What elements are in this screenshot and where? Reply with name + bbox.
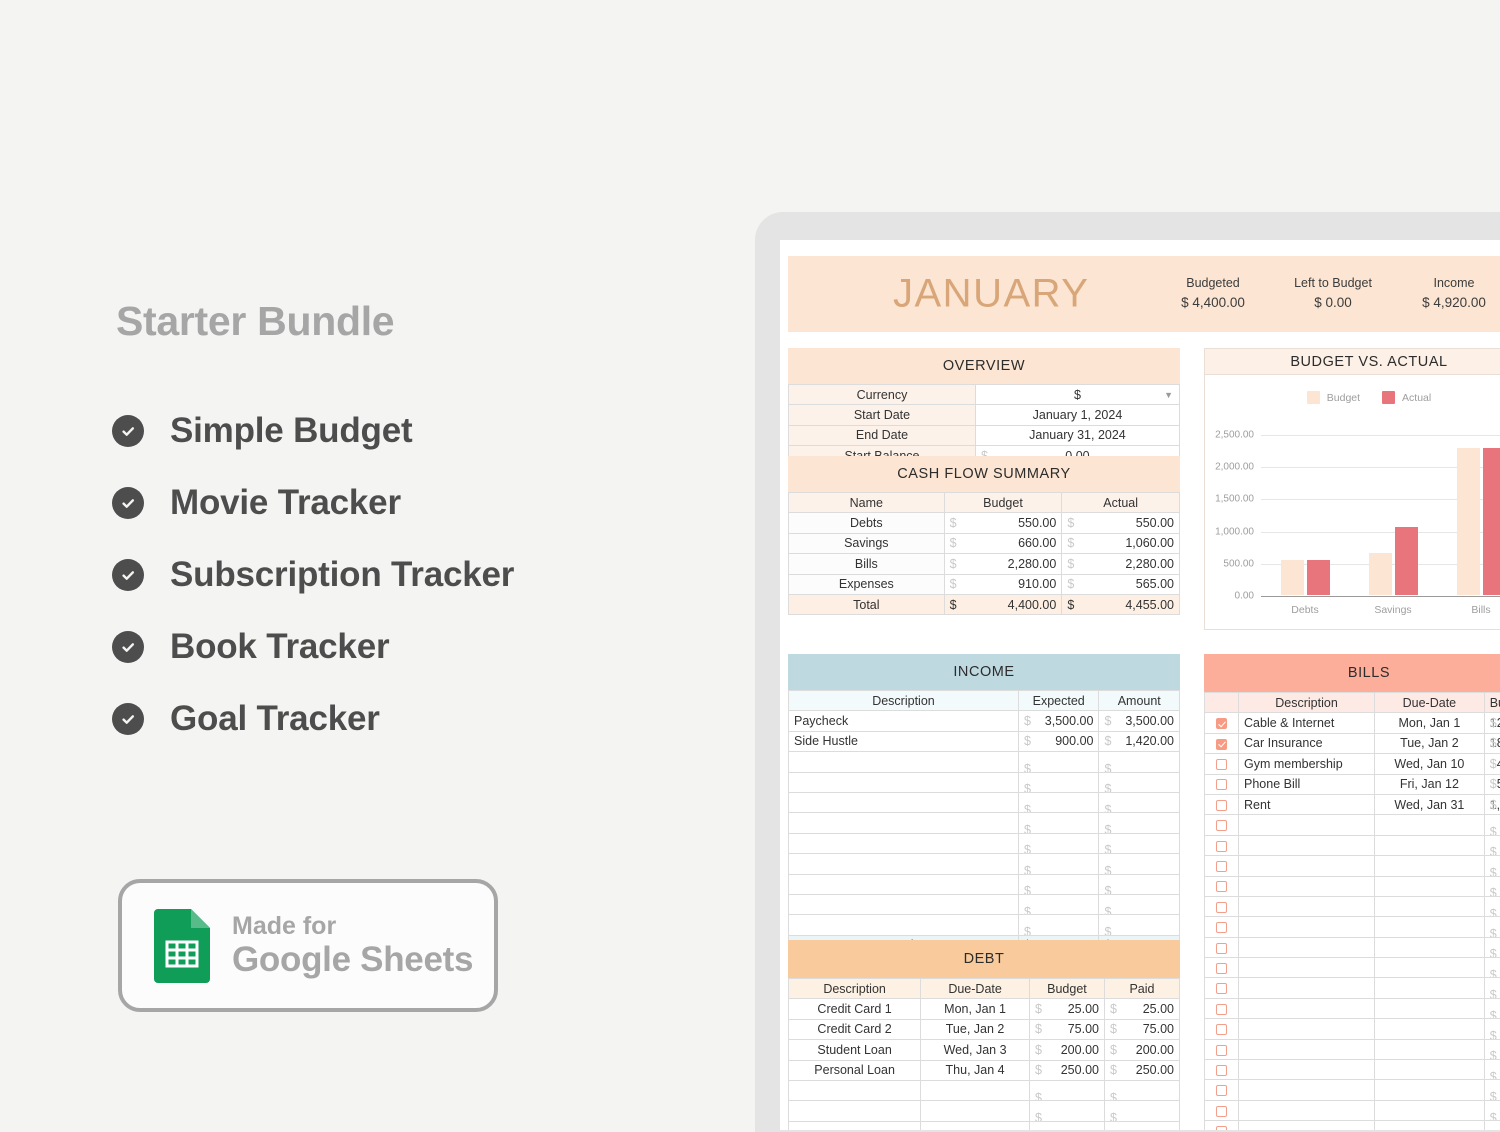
list-item: Book Tracker	[112, 611, 712, 683]
currency-symbol: $	[1110, 1022, 1117, 1036]
money-cell: $	[1018, 854, 1099, 874]
table-row-empty[interactable]: $	[1205, 1060, 1500, 1080]
debt-due-date: Thu, Jan 4	[921, 1060, 1030, 1080]
bills-panel: BILLS Description Due-Date Budget Cable …	[1204, 654, 1500, 1130]
currency-symbol: $	[1490, 825, 1497, 835]
currency-symbol: $	[1104, 762, 1111, 772]
kpi-value: $ 4,920.00	[1398, 293, 1500, 314]
bar-actual	[1307, 560, 1330, 595]
money-cell: $250.00	[1104, 1060, 1179, 1080]
income-description	[789, 874, 1019, 894]
income-table: Description Expected Amount Paycheck$3,5…	[788, 690, 1180, 956]
bill-paid-checkbox[interactable]	[1205, 835, 1239, 855]
income-description	[789, 915, 1019, 935]
kpi-left-to-budget: Left to Budget $ 0.00	[1274, 274, 1392, 314]
table-header-row: Description Due-Date Budget	[1205, 693, 1500, 713]
cash-flow-total-budget: $4,400.00	[944, 594, 1062, 614]
bill-paid-checkbox[interactable]	[1205, 794, 1239, 814]
currency-symbol: $	[1490, 947, 1497, 957]
chevron-down-icon[interactable]: ▼	[1164, 390, 1173, 400]
bill-paid-checkbox[interactable]	[1205, 1080, 1239, 1100]
bill-due-date: Mon, Jan 1	[1375, 713, 1485, 733]
list-item: Goal Tracker	[112, 683, 712, 755]
y-axis-tick-label: 0.00	[1235, 591, 1254, 602]
table-row: Side Hustle$900.00$1,420.00	[789, 731, 1180, 751]
table-row-empty[interactable]: $	[1205, 1039, 1500, 1059]
income-title: INCOME	[788, 654, 1180, 690]
table-row-empty[interactable]: $	[1205, 815, 1500, 835]
table-row-empty[interactable]: $$	[789, 1101, 1180, 1121]
legend-swatch	[1382, 391, 1395, 404]
currency-symbol: $	[1024, 714, 1031, 728]
currency-symbol: $	[950, 516, 957, 530]
currency-symbol: $	[1490, 1049, 1497, 1059]
currency-symbol: $	[1490, 1090, 1497, 1100]
table-row: Phone BillFri, Jan 12$50.00	[1205, 774, 1500, 794]
currency-symbol: $	[1035, 1043, 1042, 1057]
money-cell: $	[1484, 856, 1500, 876]
cash-flow-total-actual: $4,455.00	[1062, 594, 1180, 614]
money-cell: $	[1029, 1121, 1104, 1130]
bill-description	[1239, 1121, 1375, 1130]
check-circle-icon	[112, 631, 144, 663]
bill-due-date	[1375, 1100, 1485, 1120]
currency-symbol: $	[1024, 734, 1031, 748]
bill-description	[1239, 958, 1375, 978]
bill-description: Car Insurance	[1239, 733, 1375, 753]
bill-description	[1239, 1019, 1375, 1039]
bill-description: Rent	[1239, 794, 1375, 814]
debt-description	[789, 1080, 921, 1100]
debt-due-date: Tue, Jan 2	[921, 1019, 1030, 1039]
table-row-empty[interactable]: $$	[789, 1121, 1180, 1130]
feature-list: Simple Budget Movie Tracker Subscription…	[112, 395, 712, 755]
value: 3,500.00	[1045, 714, 1094, 728]
cash-flow-name: Debts	[789, 513, 945, 533]
bill-paid-checkbox[interactable]	[1205, 998, 1239, 1018]
column-header: Budget	[1029, 979, 1104, 999]
bill-paid-checkbox[interactable]	[1205, 978, 1239, 998]
money-cell: $	[1484, 937, 1500, 957]
debt-due-date: Mon, Jan 1	[921, 999, 1030, 1019]
currency-symbol: $	[1490, 907, 1497, 917]
currency-symbol: $	[1490, 798, 1497, 812]
income-description: Paycheck	[789, 711, 1019, 731]
bill-paid-checkbox[interactable]	[1205, 713, 1239, 733]
table-row-empty[interactable]: $$	[789, 752, 1180, 772]
value: 1,060.00	[1125, 536, 1174, 550]
check-circle-icon	[112, 415, 144, 447]
money-cell: $	[1099, 915, 1180, 935]
bill-paid-checkbox[interactable]	[1205, 917, 1239, 937]
debt-due-date	[921, 1121, 1030, 1130]
bar-group: Debts	[1277, 419, 1333, 595]
checkbox-icon[interactable]	[1216, 902, 1227, 913]
x-axis-tick-label: Bills	[1453, 604, 1500, 616]
kpi-value: $ 4,400.00	[1158, 293, 1268, 314]
cash-flow-actual: $2,280.00	[1062, 554, 1180, 574]
table-row: Savings $660.00 $1,060.00	[789, 533, 1180, 553]
currency-symbol: $	[1490, 757, 1497, 771]
checkbox-icon[interactable]	[1216, 1106, 1227, 1117]
money-cell: $	[1099, 833, 1180, 853]
debt-description: Personal Loan	[789, 1060, 921, 1080]
table-row-empty[interactable]: $	[1205, 856, 1500, 876]
currency-symbol: $	[1035, 1091, 1042, 1101]
income-description	[789, 854, 1019, 874]
bar-budget	[1369, 553, 1392, 595]
legend-item-actual: Actual	[1382, 391, 1431, 404]
bill-description	[1239, 1039, 1375, 1059]
chart-legend: Budget Actual	[1205, 391, 1500, 404]
table-row-empty[interactable]: $	[1205, 1019, 1500, 1039]
table-row: Personal LoanThu, Jan 4$250.00$250.00	[789, 1060, 1180, 1080]
bill-description	[1239, 998, 1375, 1018]
overview-table: Currency $ ▼ Start Date January 1, 2024 …	[788, 384, 1180, 467]
currency-symbol: $	[1104, 823, 1111, 833]
chart-plot-area: 2,500.002,000.001,500.001,000.00500.000.…	[1261, 419, 1500, 595]
cash-flow-budget: $660.00	[944, 533, 1062, 553]
cash-flow-name: Savings	[789, 533, 945, 553]
bill-paid-checkbox[interactable]	[1205, 1019, 1239, 1039]
currency-symbol: $	[1490, 736, 1497, 750]
column-header: Description	[789, 979, 921, 999]
bill-due-date	[1375, 876, 1485, 896]
currency-symbol: $	[1104, 864, 1111, 874]
cash-flow-budget: $550.00	[944, 513, 1062, 533]
cash-flow-name: Bills	[789, 554, 945, 574]
value: 200.00	[1136, 1043, 1174, 1057]
bill-paid-checkbox[interactable]	[1205, 937, 1239, 957]
checkbox-icon[interactable]	[1216, 861, 1227, 872]
currency-symbol: $	[1490, 988, 1497, 998]
value: 1,420.00	[1125, 734, 1174, 748]
list-item: Subscription Tracker	[112, 539, 712, 611]
money-cell: $	[1484, 958, 1500, 978]
checkbox-icon[interactable]	[1216, 800, 1227, 811]
table-row-empty[interactable]: $	[1205, 917, 1500, 937]
money-cell: $	[1099, 894, 1180, 914]
table-row-empty[interactable]: $$	[789, 894, 1180, 914]
bill-description: Phone Bill	[1239, 774, 1375, 794]
currency-symbol: $	[1035, 1063, 1042, 1077]
currency-symbol: $	[1104, 905, 1111, 915]
kpi-value: $ 0.00	[1274, 293, 1392, 314]
cash-flow-actual: $1,060.00	[1062, 533, 1180, 553]
table-row-empty[interactable]: $	[1205, 835, 1500, 855]
bill-paid-checkbox[interactable]	[1205, 1121, 1239, 1130]
bill-due-date: Wed, Jan 10	[1375, 754, 1485, 774]
currency-symbol: $	[1490, 968, 1497, 978]
checkbox-checked-icon[interactable]	[1216, 718, 1227, 729]
checkbox-icon[interactable]	[1216, 779, 1227, 790]
bar-actual	[1395, 527, 1418, 595]
checkbox-icon[interactable]	[1216, 1045, 1227, 1056]
bills-title: BILLS	[1204, 654, 1500, 692]
table-row-empty[interactable]: $	[1205, 876, 1500, 896]
money-cell: $	[1099, 772, 1180, 792]
money-cell: $75.00	[1104, 1019, 1179, 1039]
currency-symbol: $	[1490, 1029, 1497, 1039]
y-axis-tick-label: 1,000.00	[1215, 526, 1254, 537]
currency-symbol: $	[1490, 845, 1497, 855]
currency-symbol: $	[1024, 782, 1031, 792]
column-header: Budget	[944, 493, 1062, 513]
bill-due-date: Tue, Jan 2	[1375, 733, 1485, 753]
table-row: Bills $2,280.00 $2,280.00	[789, 554, 1180, 574]
money-cell: $	[1484, 896, 1500, 916]
currency-symbol: $	[1104, 734, 1111, 748]
overview-row-label: End Date	[789, 425, 976, 445]
legend-label: Budget	[1327, 392, 1360, 404]
overview-panel: OVERVIEW Currency $ ▼ Start Date January…	[788, 348, 1180, 467]
kpi-label: Left to Budget	[1274, 274, 1392, 293]
value: 565.00	[1136, 577, 1174, 591]
currency-symbol: $	[1067, 577, 1074, 591]
chart-title: BUDGET VS. ACTUAL	[1204, 348, 1500, 375]
money-cell: $50.00	[1484, 774, 1500, 794]
table-row-empty[interactable]: $$	[789, 792, 1180, 812]
cash-flow-table: Name Budget Actual Debts $550.00 $550.00…	[788, 492, 1180, 615]
check-circle-icon	[112, 559, 144, 591]
value: 4,455.00	[1125, 598, 1174, 612]
bill-due-date	[1375, 835, 1485, 855]
money-cell: $	[1099, 752, 1180, 772]
money-cell: $200.00	[1104, 1040, 1179, 1060]
table-row-empty[interactable]: $$	[789, 915, 1180, 935]
currency-symbol: $	[1035, 1022, 1042, 1036]
money-cell: $	[1484, 1080, 1500, 1100]
overview-row-label: Currency	[789, 385, 976, 405]
checkbox-icon[interactable]	[1216, 841, 1227, 852]
checkbox-icon[interactable]	[1216, 1126, 1227, 1130]
currency-symbol: $	[1104, 782, 1111, 792]
bill-due-date	[1375, 815, 1485, 835]
table-row-empty[interactable]: $	[1205, 937, 1500, 957]
y-axis-tick-label: 2,500.00	[1215, 430, 1254, 441]
bill-description	[1239, 917, 1375, 937]
table-row-empty[interactable]: $	[1205, 998, 1500, 1018]
debt-description: Student Loan	[789, 1040, 921, 1060]
debt-due-date	[921, 1080, 1030, 1100]
currency-symbol: $	[1024, 762, 1031, 772]
value: 660.00	[1018, 536, 1056, 550]
table-row-empty[interactable]: $$	[789, 833, 1180, 853]
bill-paid-checkbox[interactable]	[1205, 876, 1239, 896]
bill-paid-checkbox[interactable]	[1205, 1100, 1239, 1120]
bills-table: Description Due-Date Budget Cable & Inte…	[1204, 692, 1500, 1130]
value: 75.00	[1068, 1022, 1099, 1036]
money-cell: $	[1018, 915, 1099, 935]
bill-paid-checkbox[interactable]	[1205, 733, 1239, 753]
debt-title: DEBT	[788, 940, 1180, 978]
cash-flow-summary-panel: CASH FLOW SUMMARY Name Budget Actual Deb…	[788, 456, 1180, 615]
bill-paid-checkbox[interactable]	[1205, 896, 1239, 916]
bill-description	[1239, 1060, 1375, 1080]
y-axis-tick-label: 1,500.00	[1215, 494, 1254, 505]
checkbox-icon[interactable]	[1216, 1024, 1227, 1035]
money-cell: $120.00	[1484, 713, 1500, 733]
column-header: Description	[789, 691, 1019, 711]
money-cell: $	[1018, 772, 1099, 792]
currency-select[interactable]: $ ▼	[975, 385, 1179, 405]
money-cell: $	[1484, 978, 1500, 998]
legend-swatch	[1307, 391, 1320, 404]
money-cell: $	[1104, 1121, 1179, 1130]
currency-symbol: $	[1110, 1002, 1117, 1016]
debt-due-date: Wed, Jan 3	[921, 1040, 1030, 1060]
bill-description	[1239, 937, 1375, 957]
debt-table: Description Due-Date Budget Paid Credit …	[788, 978, 1180, 1130]
value: 900.00	[1055, 734, 1093, 748]
bar-group: Bills	[1453, 419, 1500, 595]
value: 2,280.00	[1008, 557, 1057, 571]
currency-symbol: $	[1067, 557, 1074, 571]
cash-flow-budget: $910.00	[944, 574, 1062, 594]
money-cell: $900.00	[1018, 731, 1099, 751]
income-description: Side Hustle	[789, 731, 1019, 751]
money-cell: $	[1484, 1039, 1500, 1059]
value: 75.00	[1143, 1022, 1174, 1036]
value: 200.00	[1061, 1043, 1099, 1057]
money-cell: $25.00	[1029, 999, 1104, 1019]
bill-paid-checkbox[interactable]	[1205, 815, 1239, 835]
bill-paid-checkbox[interactable]	[1205, 856, 1239, 876]
table-row: Gym membershipWed, Jan 10$40.00	[1205, 754, 1500, 774]
feature-label: Book Tracker	[170, 627, 389, 667]
checkbox-icon[interactable]	[1216, 881, 1227, 892]
currency-symbol: $	[1490, 716, 1497, 730]
bill-paid-checkbox[interactable]	[1205, 754, 1239, 774]
list-item: Simple Budget	[112, 395, 712, 467]
cash-flow-budget: $2,280.00	[944, 554, 1062, 574]
table-row: RentWed, Jan 31$1,890.00	[1205, 794, 1500, 814]
column-header: Paid	[1104, 979, 1179, 999]
end-date-value[interactable]: January 31, 2024	[975, 425, 1179, 445]
bill-due-date: Wed, Jan 31	[1375, 794, 1485, 814]
checkbox-icon[interactable]	[1216, 943, 1227, 954]
table-row-empty[interactable]: $	[1205, 896, 1500, 916]
debt-description	[789, 1101, 921, 1121]
table-row-empty[interactable]: $$	[789, 1080, 1180, 1100]
legend-label: Actual	[1402, 392, 1431, 404]
cash-flow-actual: $550.00	[1062, 513, 1180, 533]
money-cell: $	[1099, 874, 1180, 894]
money-cell: $	[1018, 792, 1099, 812]
bar-actual	[1483, 448, 1500, 595]
checkbox-icon[interactable]	[1216, 1065, 1227, 1076]
column-header: Name	[789, 493, 945, 513]
table-header-row: Description Expected Amount	[789, 691, 1180, 711]
money-cell: $1,420.00	[1099, 731, 1180, 751]
bill-paid-checkbox[interactable]	[1205, 1060, 1239, 1080]
table-row-empty[interactable]: $	[1205, 1080, 1500, 1100]
debt-panel: DEBT Description Due-Date Budget Paid Cr…	[788, 940, 1180, 1130]
currency-symbol: $	[1104, 843, 1111, 853]
currency-symbol: $	[1067, 536, 1074, 550]
currency-symbol: $	[1110, 1091, 1117, 1101]
bill-due-date: Fri, Jan 12	[1375, 774, 1485, 794]
table-row-empty[interactable]: $$	[789, 854, 1180, 874]
bill-paid-checkbox[interactable]	[1205, 958, 1239, 978]
table-row-empty[interactable]: $$	[789, 813, 1180, 833]
currency-symbol: $	[1024, 925, 1031, 935]
spreadsheet-screen: JANUARY Budgeted $ 4,400.00 Left to Budg…	[780, 240, 1500, 1130]
table-row-empty[interactable]: $$	[789, 874, 1180, 894]
overview-title: OVERVIEW	[788, 348, 1180, 384]
month-banner: JANUARY Budgeted $ 4,400.00 Left to Budg…	[788, 256, 1500, 332]
checkbox-icon[interactable]	[1216, 963, 1227, 974]
kpi-budgeted: Budgeted $ 4,400.00	[1158, 274, 1268, 314]
checkbox-checked-icon[interactable]	[1216, 739, 1227, 750]
table-row-empty[interactable]: $	[1205, 978, 1500, 998]
checkbox-icon[interactable]	[1216, 922, 1227, 933]
bar-budget	[1457, 448, 1480, 595]
table-row-empty[interactable]: $$	[789, 772, 1180, 792]
currency-symbol: $	[1490, 777, 1497, 791]
table-row-empty[interactable]: $	[1205, 958, 1500, 978]
currency-symbol: $	[1490, 1009, 1497, 1019]
table-row-empty[interactable]: $	[1205, 1100, 1500, 1120]
value: 4,400.00	[1008, 598, 1057, 612]
checkbox-icon[interactable]	[1216, 983, 1227, 994]
money-cell: $	[1484, 998, 1500, 1018]
gridline: 0.00	[1261, 596, 1500, 597]
checkbox-icon[interactable]	[1216, 1085, 1227, 1096]
value: 25.00	[1143, 1002, 1174, 1016]
money-cell: $	[1484, 1100, 1500, 1120]
start-date-value[interactable]: January 1, 2024	[975, 405, 1179, 425]
table-row: Cable & InternetMon, Jan 1$120.00	[1205, 713, 1500, 733]
money-cell: $	[1484, 876, 1500, 896]
currency-symbol: $	[1104, 803, 1111, 813]
income-description	[789, 752, 1019, 772]
column-header: Due-Date	[921, 979, 1030, 999]
money-cell: $	[1029, 1101, 1104, 1121]
checkbox-icon[interactable]	[1216, 820, 1227, 831]
debt-due-date	[921, 1101, 1030, 1121]
currency-symbol: $	[1490, 927, 1497, 937]
column-header: Budget	[1484, 693, 1500, 713]
bill-description: Cable & Internet	[1239, 713, 1375, 733]
currency-symbol: $	[1067, 516, 1074, 530]
bill-paid-checkbox[interactable]	[1205, 774, 1239, 794]
column-header: Description	[1239, 693, 1375, 713]
bill-due-date	[1375, 958, 1485, 978]
table-row-empty[interactable]: $	[1205, 1121, 1500, 1130]
checkbox-icon[interactable]	[1216, 759, 1227, 770]
checkbox-icon[interactable]	[1216, 1004, 1227, 1015]
money-cell: $	[1018, 874, 1099, 894]
value: 25.00	[1068, 1002, 1099, 1016]
table-row: Expenses $910.00 $565.00	[789, 574, 1180, 594]
bill-description	[1239, 856, 1375, 876]
bill-due-date	[1375, 1121, 1485, 1130]
bill-due-date	[1375, 1080, 1485, 1100]
currency-symbol: $	[1104, 884, 1111, 894]
currency-symbol: $	[1024, 905, 1031, 915]
bill-due-date	[1375, 856, 1485, 876]
table-header-row: Name Budget Actual	[789, 493, 1180, 513]
bar-group: Savings	[1365, 419, 1421, 595]
money-cell: $180.00	[1484, 733, 1500, 753]
money-cell: $	[1099, 792, 1180, 812]
column-header: Expected	[1018, 691, 1099, 711]
feature-label: Subscription Tracker	[170, 555, 514, 595]
money-cell: $	[1104, 1101, 1179, 1121]
bill-paid-checkbox[interactable]	[1205, 1039, 1239, 1059]
cash-flow-actual: $565.00	[1062, 574, 1180, 594]
